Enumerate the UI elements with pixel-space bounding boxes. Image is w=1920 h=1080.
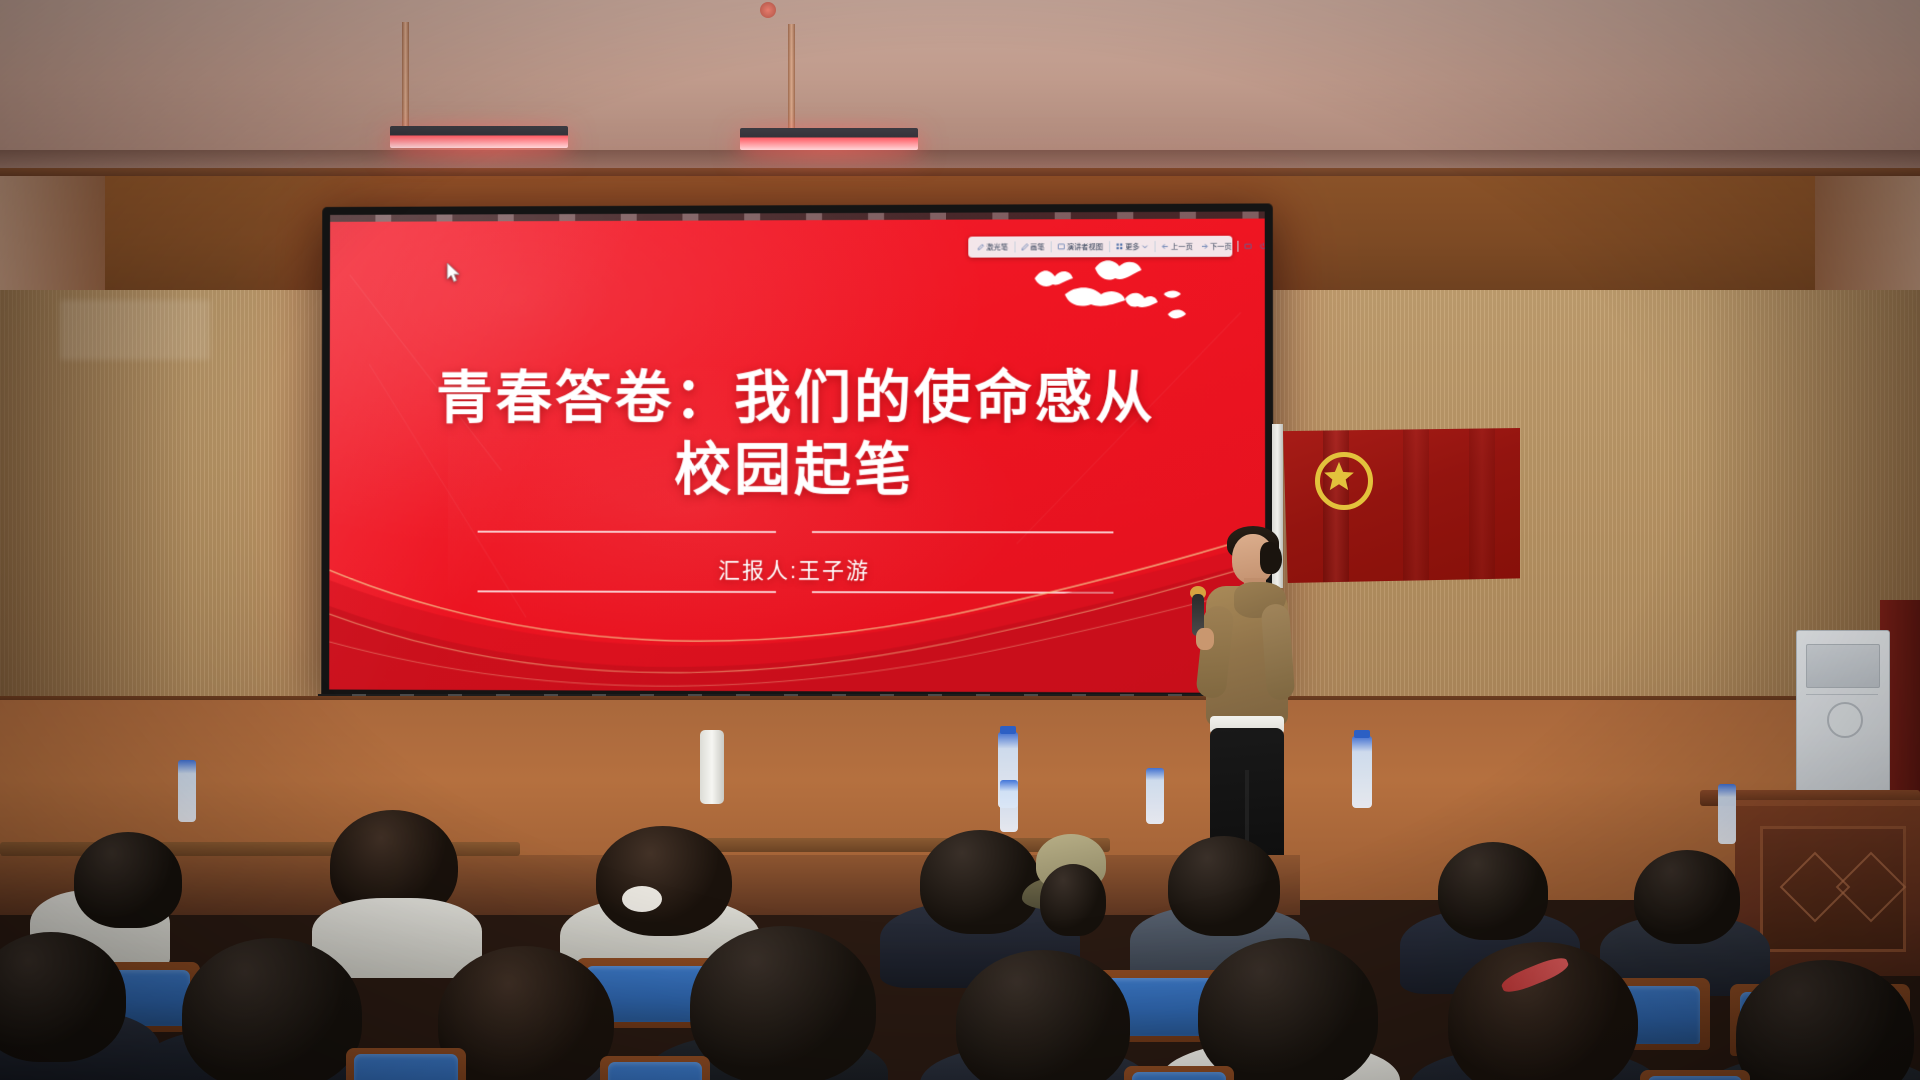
water-bottle (1000, 780, 1018, 832)
auditorium-chair (608, 1062, 702, 1080)
toolbar-more-button[interactable]: 更多 (1112, 243, 1153, 250)
toolbar-presenter-view-button[interactable]: 演讲者视图 (1054, 243, 1107, 250)
presenter-view-icon (1058, 243, 1065, 250)
audience-head-front (1198, 938, 1378, 1080)
ceiling-light-left (390, 126, 568, 148)
auditorium-chair (1648, 1076, 1742, 1080)
bottle-cap (1000, 726, 1016, 734)
audience-head (1634, 850, 1740, 944)
ribbon-wave-decoration (329, 511, 1265, 693)
toolbar-more-label: 更多 (1125, 243, 1140, 250)
wps-presentation-toolbar[interactable]: 激光笔 画笔 演讲者视图 (968, 236, 1232, 258)
water-bottle (1146, 768, 1164, 824)
audience-head (596, 826, 732, 936)
thermos-bottle (700, 730, 724, 804)
toolbar-pen-label: 画笔 (1030, 243, 1044, 250)
wall-mark (60, 300, 210, 360)
presenter-hand (1196, 628, 1214, 650)
ac-vent (1806, 644, 1880, 688)
slide-title: 青春答卷：我们的使命感从 校园起笔 (363, 362, 1231, 507)
flag-star-icon (1322, 459, 1356, 493)
slide-title-line-2: 校园起笔 (363, 435, 1231, 507)
presenter-hair-back (1260, 542, 1282, 574)
toolbar-presenter-view-label: 演讲者视图 (1067, 243, 1103, 250)
toolbar-previous-slide-button[interactable]: 上一页 (1158, 243, 1197, 250)
toolbar-separator (1238, 241, 1239, 252)
chevron-down-icon (1142, 243, 1149, 250)
hair-scrunchie (622, 886, 662, 912)
audience-head (1438, 842, 1548, 940)
arrow-right-icon (1201, 243, 1208, 250)
toolbar-next-slide-label: 下一页 (1210, 243, 1232, 250)
toolbar-exit-button[interactable] (1256, 243, 1265, 250)
toolbar-laser-pointer-button[interactable]: 激光笔 (973, 243, 1012, 250)
water-bottle (1352, 736, 1372, 808)
toolbar-separator (1109, 241, 1110, 252)
toolbar-separator (1051, 241, 1052, 252)
bottle-cap (1354, 730, 1370, 738)
led-presentation-screen: 青春答卷：我们的使命感从 校园起笔 汇报人:王子游 (321, 203, 1273, 704)
screen-icon (1245, 243, 1252, 250)
dove-flock-icon (1017, 254, 1199, 325)
laser-pointer-icon (977, 244, 984, 251)
presenter-arm-right (1261, 603, 1296, 701)
toolbar-separator (1155, 241, 1156, 252)
light-rod-left (402, 22, 409, 140)
pen-icon (1021, 243, 1028, 250)
audience-head (920, 830, 1040, 934)
audience-head-front (690, 926, 876, 1080)
grid-icon (1116, 243, 1123, 250)
toolbar-next-slide-button[interactable]: 下一页 (1197, 243, 1236, 250)
water-bottle (1718, 784, 1736, 844)
power-icon (1260, 243, 1265, 250)
toolbar-screen-button[interactable] (1241, 243, 1256, 250)
toolbar-pen-button[interactable]: 画笔 (1017, 243, 1049, 250)
ceiling-sensor-icon (760, 2, 776, 18)
ac-dial (1827, 702, 1863, 738)
water-bottle (178, 760, 196, 822)
toolbar-previous-slide-label: 上一页 (1171, 243, 1193, 250)
auditorium-chair (1132, 1072, 1226, 1080)
audience-head-front (182, 938, 362, 1080)
auditorium-chair (354, 1054, 458, 1080)
slide-title-line-1: 青春答卷：我们的使命感从 (363, 362, 1230, 435)
slide-canvas: 青春答卷：我们的使命感从 校园起笔 汇报人:王子游 (329, 211, 1265, 692)
ceiling (0, 0, 1920, 175)
toolbar-separator (1014, 241, 1015, 252)
ac-divider (1806, 694, 1878, 695)
audience-head (74, 832, 182, 928)
screenshot-root: 青春答卷：我们的使命感从 校园起笔 汇报人:王子游 (0, 0, 1920, 1080)
audience-seating-area (0, 820, 1920, 1080)
arrow-left-icon (1162, 243, 1169, 250)
audience-head (1040, 864, 1106, 936)
toolbar-laser-pointer-label: 激光笔 (986, 243, 1008, 250)
audience-head (1168, 836, 1280, 936)
ceiling-light-right (740, 128, 918, 150)
